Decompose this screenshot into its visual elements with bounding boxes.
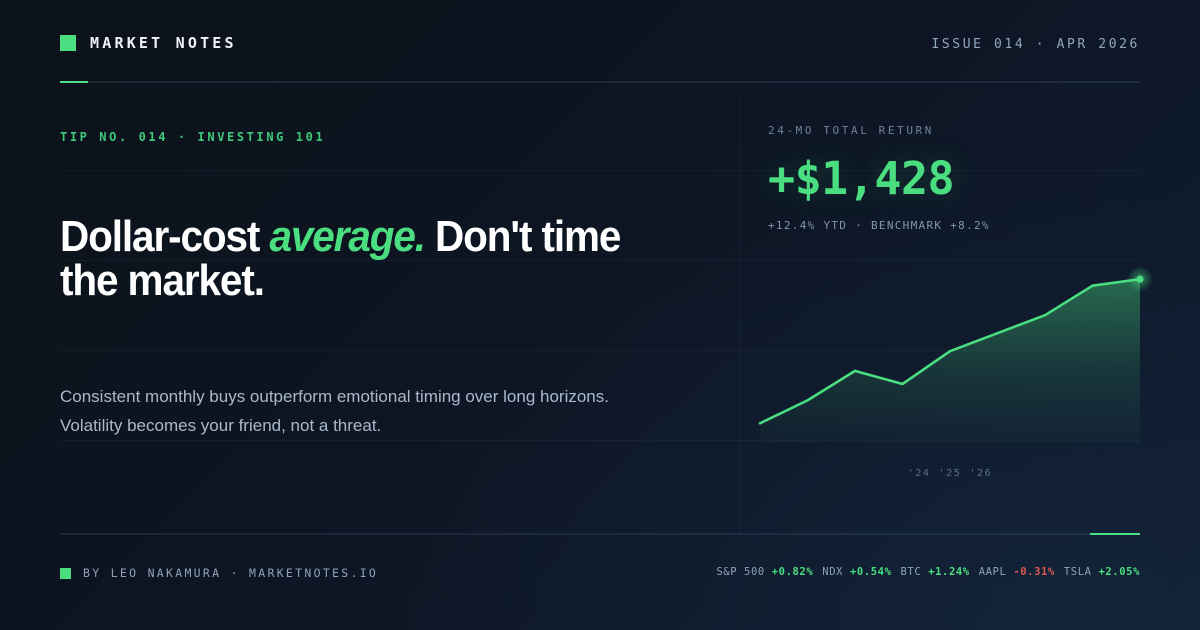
- ticker-symbol: S&P 500: [716, 566, 771, 578]
- ticker-item: AAPL -0.31%: [979, 566, 1055, 578]
- stat-label: 24-MO TOTAL RETURN: [768, 124, 934, 137]
- axis-tick-label: '26: [969, 468, 992, 479]
- ticker-symbol: BTC: [901, 566, 929, 578]
- ticker-change: +1.24%: [928, 566, 970, 578]
- chart-svg: [760, 262, 1140, 444]
- ticker-change: +0.54%: [850, 566, 892, 578]
- stat-value: +$1,428: [768, 152, 954, 205]
- ticker-item: TSLA +2.05%: [1064, 566, 1140, 578]
- axis-tick-label: '24: [908, 468, 931, 479]
- ticker-item: NDX +0.54%: [822, 566, 891, 578]
- footer-divider: [60, 533, 1140, 535]
- byline-square-icon: [60, 568, 71, 579]
- ticker-symbol: AAPL: [979, 566, 1014, 578]
- header-divider-accent: [60, 81, 88, 83]
- ticker-symbol: NDX: [822, 566, 850, 578]
- ticker-change: -0.31%: [1013, 566, 1055, 578]
- headline-emphasis: average.: [269, 212, 424, 261]
- ticker-item: BTC +1.24%: [901, 566, 970, 578]
- header-divider: [60, 81, 1140, 83]
- chart-endpoint-marker: [1136, 276, 1143, 283]
- ticker-item: S&P 500 +0.82%: [716, 566, 813, 578]
- newsletter-card: MARKET NOTES ISSUE 014 · APR 2026 TIP NO…: [0, 0, 1200, 630]
- ticker-change: +0.82%: [772, 566, 814, 578]
- brand-square-icon: [60, 35, 76, 51]
- deck-paragraph: Consistent monthly buys outperform emoti…: [60, 382, 630, 440]
- headline-part-1: Dollar-cost: [60, 212, 269, 261]
- page-title: Dollar-cost average. Don't time the mark…: [60, 215, 649, 303]
- grid-divider-vertical: [740, 96, 741, 534]
- byline: BY LEO NAKAMURA · MARKETNOTES.IO: [60, 566, 378, 580]
- eyebrow-label: TIP NO. 014 · INVESTING 101: [60, 130, 325, 144]
- ticker-change: +2.05%: [1098, 566, 1140, 578]
- ticker-symbol: TSLA: [1064, 566, 1099, 578]
- brand-name: MARKET NOTES: [90, 34, 237, 52]
- chart-area-fill: [760, 279, 1140, 443]
- performance-area-chart: [760, 262, 1140, 444]
- grid-rule: [60, 170, 1140, 171]
- stat-subtext: +12.4% YTD · BENCHMARK +8.2%: [768, 219, 990, 232]
- header: MARKET NOTES ISSUE 014 · APR 2026: [60, 34, 1140, 80]
- chart-axis-ticks: '24'25'26: [760, 468, 1140, 479]
- ticker-tape: S&P 500 +0.82%NDX +0.54%BTC +1.24%AAPL -…: [716, 566, 1140, 578]
- footer-divider-accent: [1090, 533, 1140, 535]
- byline-text: BY LEO NAKAMURA · MARKETNOTES.IO: [83, 566, 378, 580]
- issue-label: ISSUE 014 · APR 2026: [931, 37, 1140, 52]
- axis-tick-label: '25: [939, 468, 962, 479]
